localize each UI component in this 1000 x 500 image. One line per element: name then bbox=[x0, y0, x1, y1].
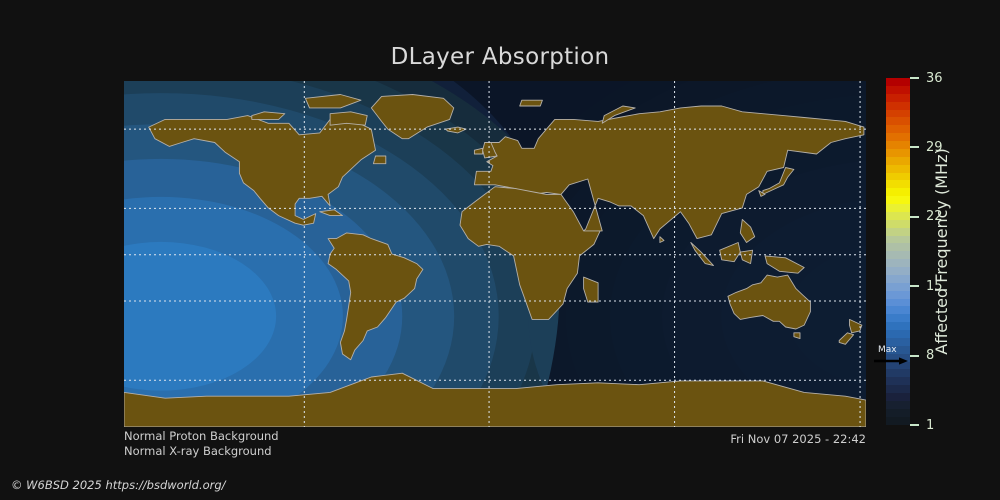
colorbar-band bbox=[886, 196, 910, 204]
colorbar-band bbox=[886, 94, 910, 102]
colorbar-band bbox=[886, 78, 910, 86]
colorbar-band bbox=[886, 173, 910, 181]
colorbar-band bbox=[886, 299, 910, 307]
tick-mark bbox=[910, 146, 919, 148]
colorbar-band bbox=[886, 133, 910, 141]
timestamp: Fri Nov 07 2025 - 22:42 bbox=[560, 432, 866, 446]
colorbar-band bbox=[886, 125, 910, 133]
background-status: Normal Proton Background Normal X-ray Ba… bbox=[124, 429, 279, 459]
colorbar-band bbox=[886, 243, 910, 251]
colorbar-band bbox=[886, 188, 910, 196]
tick-mark bbox=[910, 424, 919, 426]
colorbar-band bbox=[886, 165, 910, 173]
colorbar-band bbox=[886, 322, 910, 330]
colorbar-band bbox=[886, 157, 910, 165]
colorbar-axis-label: Affected Frequency (MHz) bbox=[930, 78, 954, 425]
colorbar-band bbox=[886, 385, 910, 393]
landmass bbox=[520, 100, 543, 106]
colorbar-band bbox=[886, 417, 910, 425]
colorbar-band bbox=[886, 330, 910, 338]
world-map-svg bbox=[124, 81, 866, 427]
colorbar-band bbox=[886, 369, 910, 377]
colorbar-band bbox=[886, 220, 910, 228]
colorbar-band bbox=[886, 149, 910, 157]
colorbar-band bbox=[886, 228, 910, 236]
proton-background-status: Normal Proton Background bbox=[124, 429, 279, 444]
colorbar-band bbox=[886, 401, 910, 409]
arrow-right-icon bbox=[874, 357, 910, 365]
colorbar-band bbox=[886, 306, 910, 314]
colorbar-band bbox=[886, 212, 910, 220]
landmass bbox=[373, 156, 385, 164]
world-map[interactable] bbox=[124, 81, 866, 427]
colorbar-band bbox=[886, 393, 910, 401]
max-marker-label: Max bbox=[878, 345, 897, 355]
colorbar-band bbox=[886, 251, 910, 259]
colorbar-band bbox=[886, 283, 910, 291]
dlayer-absorption-screen: DLayer Absorption 3629221581 Affected Fr… bbox=[0, 0, 1000, 500]
page-title: DLayer Absorption bbox=[0, 44, 1000, 70]
colorbar-band bbox=[886, 141, 910, 149]
colorbar-band bbox=[886, 117, 910, 125]
colorbar-band bbox=[886, 102, 910, 110]
colorbar-band bbox=[886, 110, 910, 118]
colorbar-band bbox=[886, 409, 910, 417]
colorbar-max-marker: Max bbox=[874, 345, 914, 367]
tick-mark bbox=[910, 216, 919, 218]
colorbar-band bbox=[886, 377, 910, 385]
tick-mark bbox=[910, 285, 919, 287]
copyright-notice: © W6BSD 2025 https://bsdworld.org/ bbox=[11, 478, 226, 492]
colorbar[interactable] bbox=[886, 78, 910, 425]
colorbar-band bbox=[886, 275, 910, 283]
colorbar-band bbox=[886, 236, 910, 244]
colorbar-band bbox=[886, 86, 910, 94]
colorbar-band bbox=[886, 204, 910, 212]
colorbar-band bbox=[886, 259, 910, 267]
tick-mark bbox=[910, 77, 919, 79]
colorbar-band bbox=[886, 267, 910, 275]
colorbar-band bbox=[886, 180, 910, 188]
xray-background-status: Normal X-ray Background bbox=[124, 444, 279, 459]
colorbar-band bbox=[886, 314, 910, 322]
colorbar-band bbox=[886, 291, 910, 299]
